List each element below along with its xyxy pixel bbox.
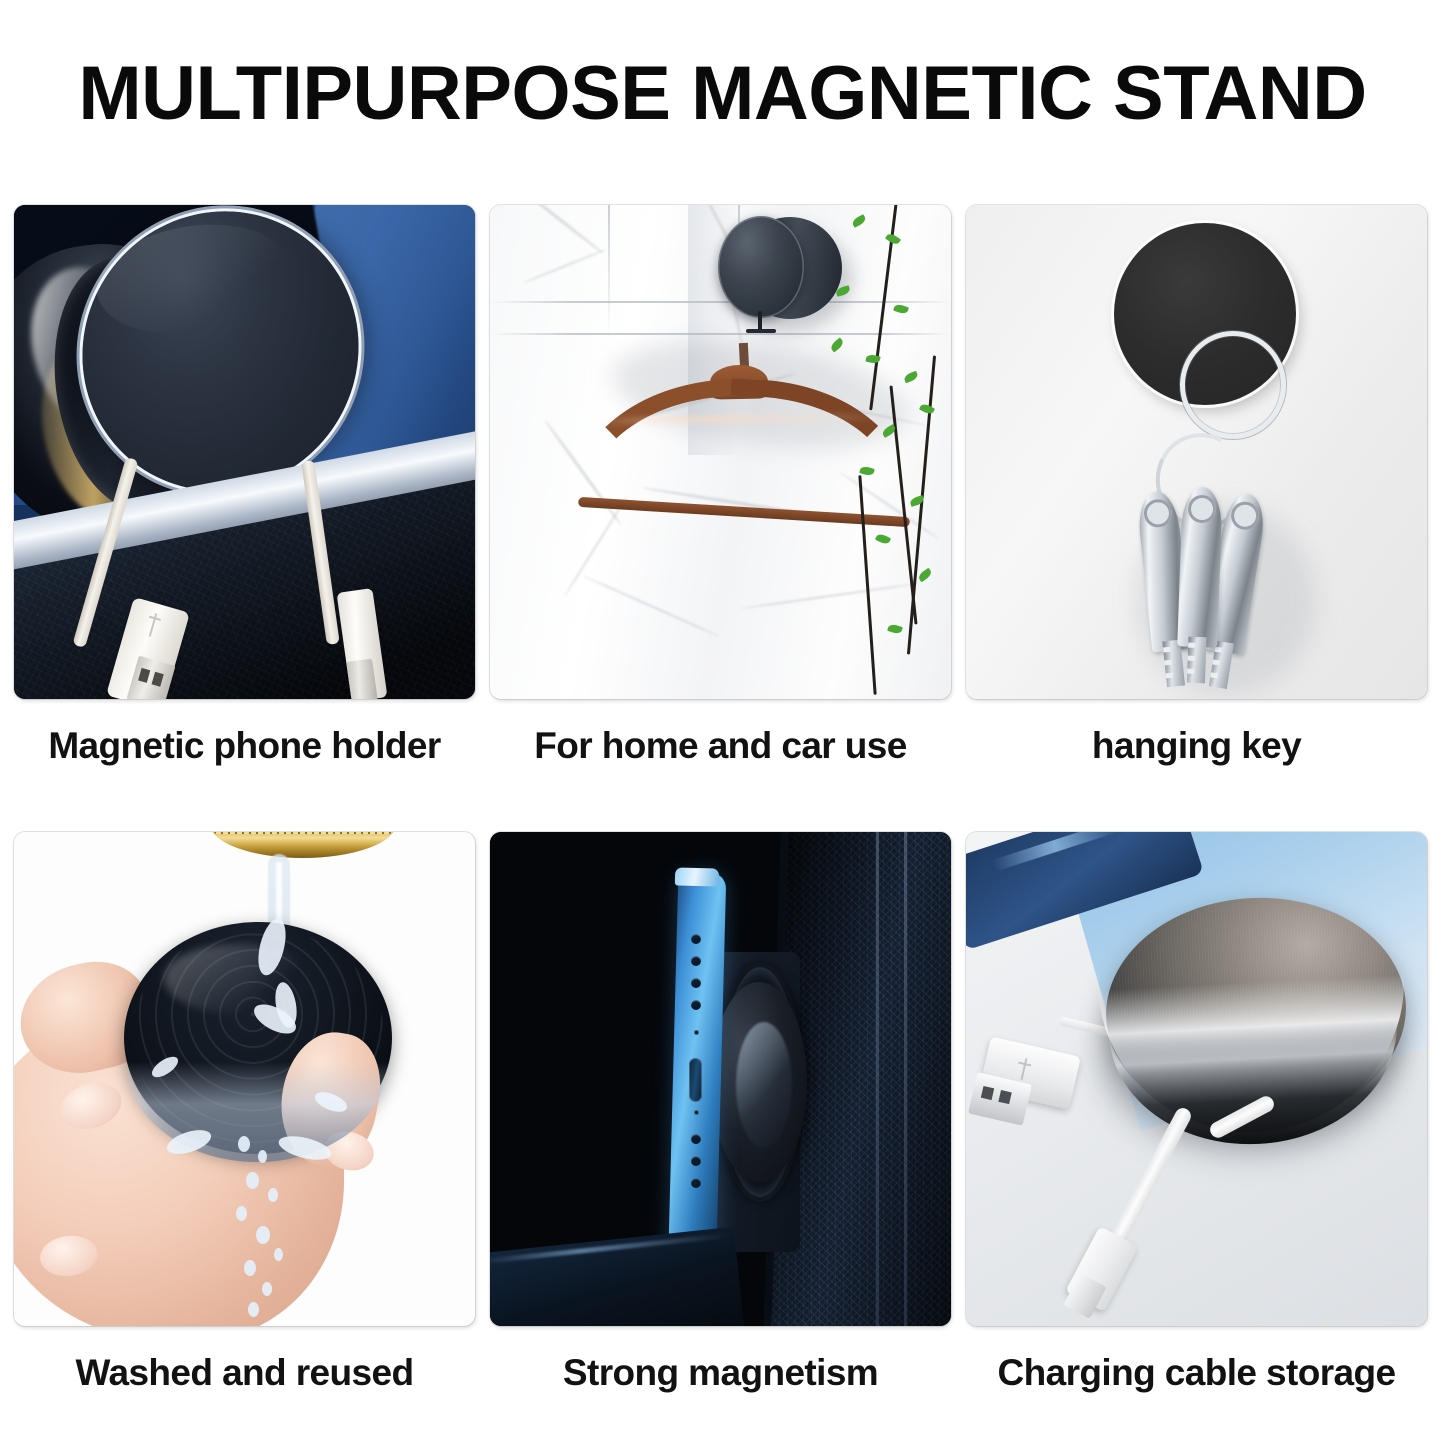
feature-cell-strong-magnetism: Strong magnetism — [490, 832, 951, 1326]
key-blade — [1209, 641, 1234, 689]
leather-seam — [904, 832, 907, 1326]
feature-image-magnetic-phone-holder — [14, 205, 475, 699]
page-title: MULTIPURPOSE MAGNETIC STAND — [0, 52, 1445, 136]
feature-image-charging-cable-storage — [966, 832, 1427, 1326]
phone-speaker-hole — [691, 934, 701, 944]
feature-cell-magnetic-phone-holder: Magnetic phone holder — [14, 205, 475, 699]
key — [1177, 486, 1223, 647]
phone-side-button — [689, 1058, 702, 1102]
water-droplet — [262, 1282, 272, 1296]
key-bow — [1229, 500, 1261, 532]
key-bunch — [1126, 485, 1306, 695]
magnet-mount-highlight — [736, 1022, 792, 1148]
feature-cell-washed-and-reused: Washed and reused — [14, 832, 475, 1326]
phone-speaker-hole — [691, 978, 701, 988]
magnetic-disc-face — [718, 216, 804, 318]
phone-speaker-hole — [691, 1178, 701, 1188]
phone-microphone-hole — [694, 1030, 699, 1035]
feature-caption: hanging key — [946, 724, 1445, 768]
water-droplet — [268, 1188, 278, 1202]
water-droplet — [246, 1172, 259, 1189]
feature-caption: For home and car use — [470, 724, 971, 768]
feature-cell-for-home-and-car-use: For home and car use — [490, 205, 951, 699]
water-droplet — [274, 1248, 283, 1261]
wooden-hanger — [562, 315, 912, 545]
feature-image-for-home-and-car-use — [490, 205, 951, 699]
feature-caption: Strong magnetism — [470, 1351, 971, 1395]
water-droplet — [248, 1302, 259, 1317]
feature-image-strong-magnetism — [490, 832, 951, 1326]
feature-image-hanging-key — [966, 205, 1427, 699]
water-droplet — [256, 1226, 270, 1244]
faucet-ridges — [214, 832, 392, 834]
feature-image-washed-and-reused — [14, 832, 475, 1326]
water-droplet — [236, 1206, 247, 1221]
phone-speaker-hole — [691, 1000, 701, 1010]
key-blade — [1187, 637, 1207, 684]
key-bow — [1188, 495, 1217, 524]
feature-caption: Washed and reused — [0, 1351, 495, 1395]
feature-cell-hanging-key: hanging key — [966, 205, 1427, 699]
phone-speaker-hole — [691, 1134, 701, 1144]
leather-seam — [876, 832, 879, 1326]
faucet — [210, 832, 396, 858]
water-droplet — [244, 1260, 256, 1276]
feature-grid: Magnetic phone holder — [14, 205, 1428, 1325]
feature-caption: Charging cable storage — [946, 1351, 1445, 1395]
phone-speaker-hole — [691, 1156, 701, 1166]
feature-cell-charging-cable-storage: Charging cable storage — [966, 832, 1427, 1326]
key-bow — [1143, 498, 1174, 529]
hanger-shoulder-right — [725, 378, 916, 517]
keyring — [1180, 331, 1286, 439]
phone-microphone-hole — [694, 1110, 699, 1115]
phone-speaker-hole — [691, 956, 701, 966]
water-droplet — [258, 1150, 267, 1163]
water-droplets — [228, 1132, 298, 1322]
water-droplet — [238, 1136, 250, 1152]
feature-caption: Magnetic phone holder — [0, 724, 495, 768]
key-blade — [1162, 640, 1185, 688]
phone-top-edge — [675, 867, 719, 886]
